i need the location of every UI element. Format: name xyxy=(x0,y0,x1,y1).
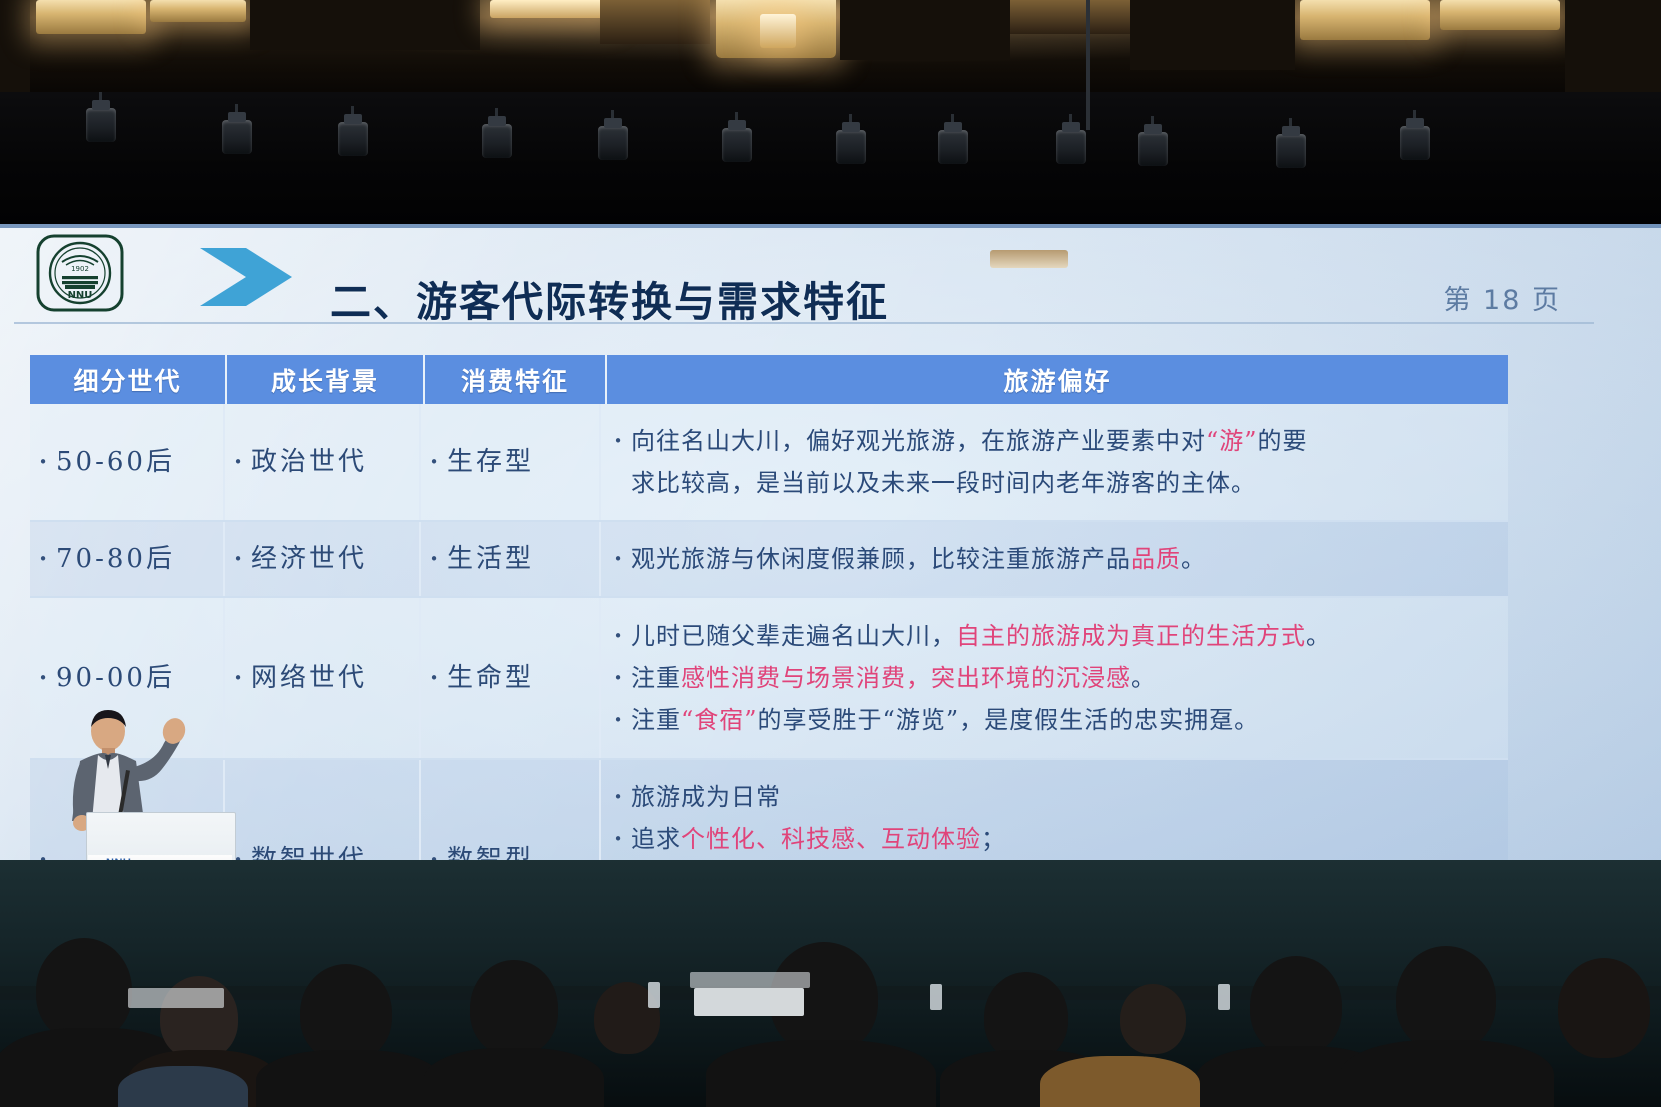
bullet-icon: • xyxy=(605,659,631,697)
ceiling-lamp xyxy=(1440,0,1560,30)
bullet-icon: • xyxy=(605,617,631,655)
bullet-icon: • xyxy=(30,442,56,482)
ceiling-slab xyxy=(840,0,1010,60)
bullet-icon: • xyxy=(605,422,631,460)
table-row: •50-60后•政治世代•生存型•向往名山大川，偏好观光旅游，在旅游产业要素中对… xyxy=(30,404,1508,522)
bullet-icon: • xyxy=(421,539,447,579)
bullet-icon: • xyxy=(605,820,631,858)
page-number: 第 18 页 xyxy=(1443,278,1561,317)
cell-consumption: •生存型 xyxy=(421,404,601,520)
ceiling-lamp-center xyxy=(760,14,796,48)
stage-light xyxy=(338,122,368,156)
cell-generation-text: 50-60后 xyxy=(56,442,175,482)
column-header-generation: 细分世代 xyxy=(30,355,227,404)
cell-generation-text: 90-00后 xyxy=(56,658,175,698)
audience-foreground xyxy=(0,860,1661,1107)
preference-text: 注重“食宿”的享受胜于“游览”，是度假生活的忠实拥趸。 xyxy=(631,701,1273,739)
table-row: •70-80后•经济世代•生活型•观光旅游与休闲度假兼顾，比较注重旅游产品品质。 xyxy=(30,522,1508,598)
cell-consumption: •生命型 xyxy=(421,598,601,758)
column-header-background: 成长背景 xyxy=(227,355,425,404)
cell-background: •政治世代 xyxy=(225,404,421,520)
bullet-icon: • xyxy=(225,442,251,482)
stage-light xyxy=(86,108,116,142)
stage-light xyxy=(722,128,752,162)
cell-background-text: 政治世代 xyxy=(251,442,367,482)
table-header-row: 细分世代 成长背景 消费特征 旅游偏好 xyxy=(30,355,1508,404)
ceiling-slab xyxy=(1565,0,1661,96)
svg-text:NNU: NNU xyxy=(68,290,93,301)
ceiling-slab xyxy=(600,0,710,44)
ceiling-lamp xyxy=(150,0,246,22)
ceiling-slab xyxy=(1130,0,1295,70)
stage-light xyxy=(598,126,628,160)
cell-generation-text: 70-80后 xyxy=(56,539,175,579)
preference-line: 求比较高，是当前以及未来一段时间内老年游客的主体。 xyxy=(605,464,1508,502)
ceiling-lamp xyxy=(1300,0,1430,40)
preference-line: •观光旅游与休闲度假兼顾，比较注重旅游产品品质。 xyxy=(605,540,1508,578)
chevron-right-icon xyxy=(200,246,328,308)
conference-photo: 1902 NNU 二、游客代际转换与需求特征 第 18 页 细分世代 成长背景 … xyxy=(0,0,1661,1107)
bullet-icon: • xyxy=(605,540,631,578)
nnu-logo: 1902 NNU xyxy=(32,234,128,312)
bullet-icon: • xyxy=(421,442,447,482)
bullet-icon: • xyxy=(605,701,631,739)
bullet-icon: • xyxy=(605,778,631,816)
stage-light xyxy=(836,130,866,164)
preference-text: 求比较高，是当前以及未来一段时间内老年游客的主体。 xyxy=(631,464,1270,502)
bullet-icon: • xyxy=(225,539,251,579)
stage-light xyxy=(482,124,512,158)
ceiling-cable xyxy=(1086,0,1090,130)
cell-background: •网络世代 xyxy=(225,598,421,758)
ceiling-lamp xyxy=(490,0,610,18)
stage-light xyxy=(222,120,252,154)
column-header-preference: 旅游偏好 xyxy=(607,355,1508,404)
cell-background-text: 网络世代 xyxy=(251,658,367,698)
cell-background-text: 经济世代 xyxy=(251,539,367,579)
screen-top-edge xyxy=(0,224,1661,228)
cell-preference: •向往名山大川，偏好观光旅游，在旅游产业要素中对“游”的要求比较高，是当前以及未… xyxy=(601,404,1508,520)
preference-line: •注重“食宿”的享受胜于“游览”，是度假生活的忠实拥趸。 xyxy=(605,701,1508,739)
cell-generation: •50-60后 xyxy=(30,404,225,520)
cell-generation: •70-80后 xyxy=(30,522,225,596)
ceiling-slab xyxy=(1010,0,1130,34)
stage-light xyxy=(1056,130,1086,164)
preference-line: •旅游成为日常 xyxy=(605,778,1508,816)
preference-line: •向往名山大川，偏好观光旅游，在旅游产业要素中对“游”的要 xyxy=(605,422,1508,460)
bullet-icon: • xyxy=(421,658,447,698)
stage-light xyxy=(1400,126,1430,160)
preference-text: 儿时已随父辈走遍名山大川，自主的旅游成为真正的生活方式。 xyxy=(631,617,1345,655)
stage-light xyxy=(1276,134,1306,168)
cell-consumption-text: 生存型 xyxy=(447,442,534,482)
screen-glare-artifact xyxy=(990,250,1068,268)
preference-text: 注重感性消费与场景消费，突出环境的沉浸感。 xyxy=(631,659,1170,697)
bullet-icon: • xyxy=(30,539,56,579)
header-divider xyxy=(14,322,1594,324)
preference-line: •追求个性化、科技感、互动体验； xyxy=(605,820,1508,858)
bullet-icon: • xyxy=(30,658,56,698)
stage-light xyxy=(938,130,968,164)
preference-text: 旅游成为日常 xyxy=(631,778,795,816)
table-row: •90-00后•网络世代•生命型•儿时已随父辈走遍名山大川，自主的旅游成为真正的… xyxy=(30,598,1508,760)
cell-consumption-text: 生命型 xyxy=(447,658,534,698)
preference-text: 追求个性化、科技感、互动体验； xyxy=(631,820,1020,858)
bullet-icon: • xyxy=(225,658,251,698)
ceiling-slab xyxy=(250,0,480,50)
ceiling-lamp xyxy=(36,0,146,34)
column-header-consumption: 消费特征 xyxy=(425,355,607,404)
ceiling-slab xyxy=(0,0,30,96)
cell-background: •经济世代 xyxy=(225,522,421,596)
cell-consumption: •生活型 xyxy=(421,522,601,596)
cell-preference: •儿时已随父辈走遍名山大川，自主的旅游成为真正的生活方式。•注重感性消费与场景消… xyxy=(601,598,1508,758)
cell-preference: •观光旅游与休闲度假兼顾，比较注重旅游产品品质。 xyxy=(601,522,1508,596)
preference-line: •儿时已随父辈走遍名山大川，自主的旅游成为真正的生活方式。 xyxy=(605,617,1508,655)
svg-text:1902: 1902 xyxy=(71,265,89,273)
preference-line: •注重感性消费与场景消费，突出环境的沉浸感。 xyxy=(605,659,1508,697)
cell-consumption-text: 生活型 xyxy=(447,539,534,579)
stage-light xyxy=(1138,132,1168,166)
preference-text: 观光旅游与休闲度假兼顾，比较注重旅游产品品质。 xyxy=(631,540,1220,578)
preference-text: 向往名山大川，偏好观光旅游，在旅游产业要素中对“游”的要 xyxy=(631,422,1322,460)
slide-title: 二、游客代际转换与需求特征 xyxy=(330,271,889,333)
